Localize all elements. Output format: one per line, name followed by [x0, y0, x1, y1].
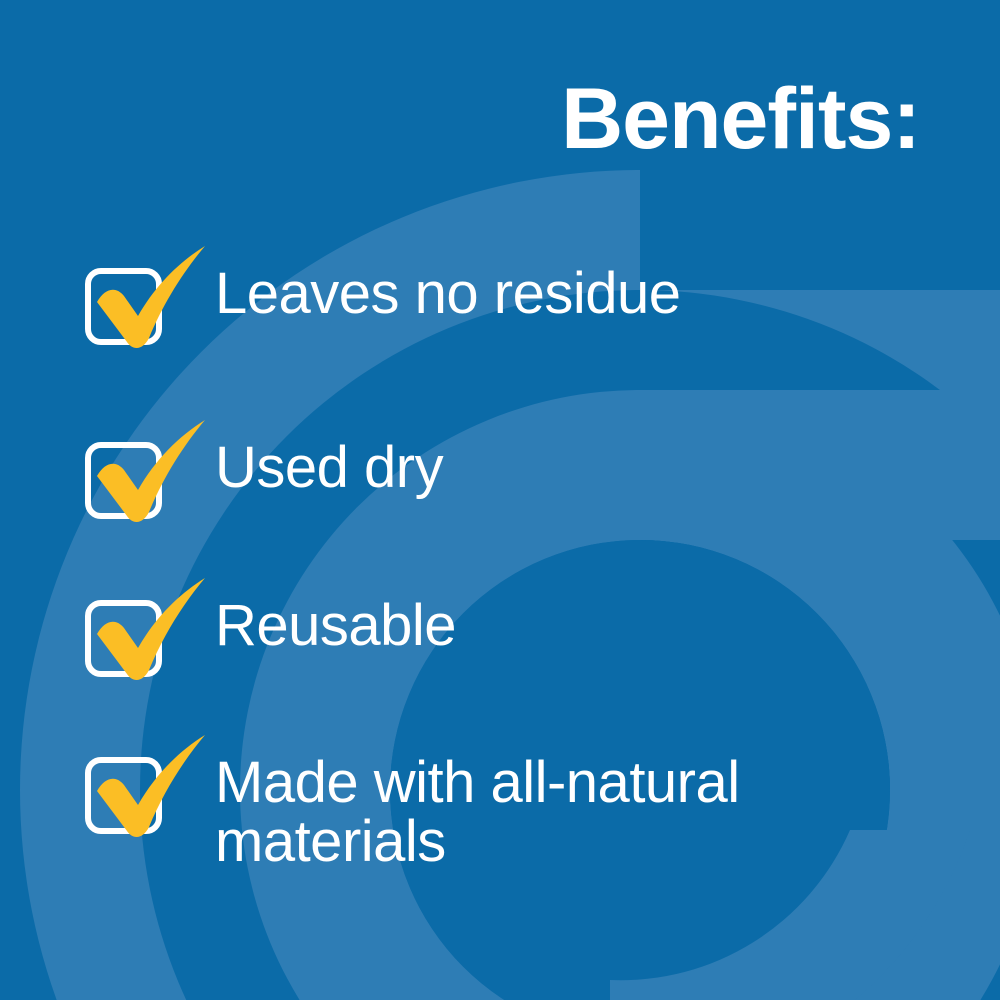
benefits-panel: Benefits: Leaves no residue Used dry [0, 0, 1000, 1000]
list-item-label: Reusable [215, 596, 456, 655]
checkmark-icon [83, 404, 213, 534]
list-item-label: Used dry [215, 438, 443, 497]
checkmark-icon [83, 719, 213, 849]
checked-checkbox-icon [85, 268, 170, 353]
list-item-label: Leaves no residue [215, 264, 681, 323]
checked-checkbox-icon [85, 600, 170, 685]
checked-checkbox-icon [85, 442, 170, 527]
list-item: Reusable [85, 600, 456, 685]
list-item: Made with all-natural materials [85, 757, 740, 871]
checkmark-icon [83, 562, 213, 692]
benefits-list: Leaves no residue Used dry Reusable [0, 0, 1000, 1000]
checked-checkbox-icon [85, 757, 170, 842]
list-item-label: Made with all-natural materials [215, 753, 740, 871]
list-item: Used dry [85, 442, 443, 527]
list-item: Leaves no residue [85, 268, 681, 353]
checkmark-icon [83, 230, 213, 360]
